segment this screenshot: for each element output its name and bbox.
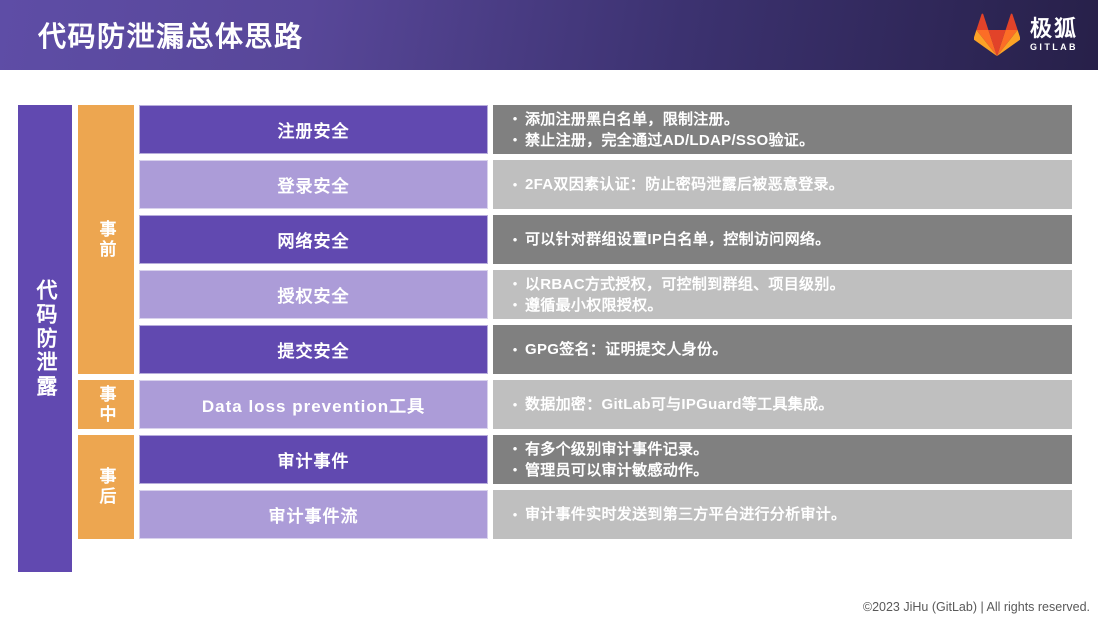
phase-block-0: 事前 xyxy=(78,105,134,374)
description-line: •有多个级别审计事件记录。 xyxy=(505,439,1072,460)
phase-label: 事中 xyxy=(94,385,119,425)
topic-label-box[interactable]: 网络安全 xyxy=(139,215,488,264)
bullet-icon: • xyxy=(505,230,525,250)
topic-label-box[interactable]: 审计事件流 xyxy=(139,490,488,539)
bullet-icon: • xyxy=(505,109,525,129)
brand-logo-group: 极狐 GITLAB xyxy=(974,13,1078,57)
bullet-icon: • xyxy=(505,274,525,294)
bullet-icon: • xyxy=(505,295,525,315)
description-line: •禁止注册，完全通过AD/LDAP/SSO验证。 xyxy=(505,130,1072,151)
topic-label-box[interactable]: Data loss prevention工具 xyxy=(139,380,488,429)
main-column-code-leak-prevention: 代码防泄露 xyxy=(18,105,72,572)
description-text: 2FA双因素认证：防止密码泄露后被恶意登录。 xyxy=(525,175,844,195)
bullet-icon: • xyxy=(505,460,525,480)
description-line: •添加注册黑白名单，限制注册。 xyxy=(505,109,1072,130)
bullet-icon: • xyxy=(505,130,525,150)
description-text: 数据加密：GitLab可与IPGuard等工具集成。 xyxy=(525,395,834,415)
description-box: •以RBAC方式授权，可控制到群组、项目级别。•遵循最小权限授权。 xyxy=(493,270,1072,319)
bullet-icon: • xyxy=(505,175,525,195)
main-column-label: 代码防泄露 xyxy=(30,279,60,399)
bullet-icon: • xyxy=(505,340,525,360)
description-line: •2FA双因素认证：防止密码泄露后被恶意登录。 xyxy=(505,175,1072,195)
brand-name-cn: 极狐 xyxy=(1030,18,1078,40)
brand-text: 极狐 GITLAB xyxy=(1030,18,1078,52)
topic-label-text: 提交安全 xyxy=(278,337,350,362)
bullet-icon: • xyxy=(505,439,525,459)
topic-label-box[interactable]: 审计事件 xyxy=(139,435,488,484)
bullet-icon: • xyxy=(505,395,525,415)
topic-label-text: 授权安全 xyxy=(278,282,350,307)
topic-label-text: 注册安全 xyxy=(278,117,350,142)
topic-label-box[interactable]: 注册安全 xyxy=(139,105,488,154)
description-text: 有多个级别审计事件记录。 xyxy=(525,439,709,460)
description-box: •审计事件实时发送到第三方平台进行分析审计。 xyxy=(493,490,1072,539)
topic-label-text: 审计事件流 xyxy=(269,502,359,527)
description-text: 审计事件实时发送到第三方平台进行分析审计。 xyxy=(525,505,846,525)
topic-label-box[interactable]: 登录安全 xyxy=(139,160,488,209)
topic-label-box[interactable]: 提交安全 xyxy=(139,325,488,374)
description-box: •有多个级别审计事件记录。•管理员可以审计敏感动作。 xyxy=(493,435,1072,484)
description-text: 添加注册黑白名单，限制注册。 xyxy=(525,109,739,130)
description-box: •GPG签名：证明提交人身份。 xyxy=(493,325,1072,374)
description-text: 可以针对群组设置IP白名单，控制访问网络。 xyxy=(525,230,830,250)
description-text: GPG签名：证明提交人身份。 xyxy=(525,340,728,360)
description-box: •数据加密：GitLab可与IPGuard等工具集成。 xyxy=(493,380,1072,429)
topic-label-text: Data loss prevention工具 xyxy=(202,392,425,417)
phase-block-1: 事中 xyxy=(78,380,134,429)
page-header: 代码防泄漏总体思路 极狐 GITLAB xyxy=(0,0,1098,70)
description-text: 以RBAC方式授权，可控制到群组、项目级别。 xyxy=(525,274,845,295)
description-text: 管理员可以审计敏感动作。 xyxy=(525,460,709,481)
topic-label-text: 网络安全 xyxy=(278,227,350,252)
description-box: •可以针对群组设置IP白名单，控制访问网络。 xyxy=(493,215,1072,264)
diagram-area: 代码防泄露 事前事中事后 注册安全•添加注册黑白名单，限制注册。•禁止注册，完全… xyxy=(0,70,1098,590)
gitlab-fox-icon xyxy=(974,13,1020,57)
phase-label: 事前 xyxy=(94,220,119,260)
description-line: •GPG签名：证明提交人身份。 xyxy=(505,340,1072,360)
description-line: •审计事件实时发送到第三方平台进行分析审计。 xyxy=(505,505,1072,525)
description-line: •管理员可以审计敏感动作。 xyxy=(505,460,1072,481)
description-line: •以RBAC方式授权，可控制到群组、项目级别。 xyxy=(505,274,1072,295)
footer-copyright: ©2023 JiHu (GitLab) | All rights reserve… xyxy=(863,600,1090,614)
topic-label-text: 登录安全 xyxy=(278,172,350,197)
phase-label: 事后 xyxy=(94,467,119,507)
topic-label-box[interactable]: 授权安全 xyxy=(139,270,488,319)
bullet-icon: • xyxy=(505,505,525,525)
brand-name-en: GITLAB xyxy=(1030,43,1078,52)
description-text: 遵循最小权限授权。 xyxy=(525,295,663,316)
description-text: 禁止注册，完全通过AD/LDAP/SSO验证。 xyxy=(525,130,814,151)
description-line: •可以针对群组设置IP白名单，控制访问网络。 xyxy=(505,230,1072,250)
description-line: •遵循最小权限授权。 xyxy=(505,295,1072,316)
phase-block-2: 事后 xyxy=(78,435,134,539)
description-line: •数据加密：GitLab可与IPGuard等工具集成。 xyxy=(505,395,1072,415)
topic-label-text: 审计事件 xyxy=(278,447,350,472)
page-title: 代码防泄漏总体思路 xyxy=(38,15,304,55)
description-box: •添加注册黑白名单，限制注册。•禁止注册，完全通过AD/LDAP/SSO验证。 xyxy=(493,105,1072,154)
description-box: •2FA双因素认证：防止密码泄露后被恶意登录。 xyxy=(493,160,1072,209)
